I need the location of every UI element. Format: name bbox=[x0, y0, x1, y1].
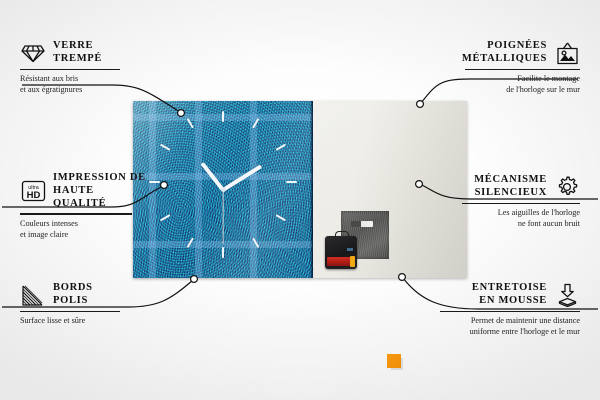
callout-subtitle: Couleurs intenses et image claire bbox=[20, 218, 148, 240]
mechanism-hook bbox=[335, 231, 349, 239]
hour-marker bbox=[222, 247, 224, 258]
hanger-slot bbox=[351, 221, 373, 227]
mechanism-detail bbox=[347, 248, 353, 251]
clock-minute-hand bbox=[222, 164, 262, 191]
callout-rule bbox=[20, 213, 132, 214]
diamond-icon bbox=[20, 40, 46, 66]
callout-impression-haute-qualite: ultra HD IMPRESSION DE HAUTE QUALITÉ Cou… bbox=[20, 172, 148, 240]
clock-front-panel bbox=[133, 101, 313, 278]
hour-marker bbox=[187, 238, 194, 249]
callout-subtitle: Permet de maintenir une distance uniform… bbox=[428, 315, 580, 337]
callout-subtitle: Surface lisse et sûre bbox=[20, 315, 135, 326]
callout-header: ENTRETOISE EN MOUSSE bbox=[428, 282, 580, 308]
callout-mecanisme-silencieux: MÉCANISME SILENCIEUX Les aiguilles de l'… bbox=[448, 174, 580, 229]
hour-marker bbox=[222, 111, 224, 122]
callout-title: MÉCANISME SILENCIEUX bbox=[474, 174, 547, 200]
callout-title: IMPRESSION DE HAUTE QUALITÉ bbox=[53, 172, 148, 210]
hour-marker bbox=[252, 238, 259, 249]
battery-terminal bbox=[350, 256, 355, 267]
callout-header: BORDS POLIS bbox=[20, 282, 135, 308]
product-image bbox=[133, 101, 467, 278]
hour-marker bbox=[276, 214, 287, 221]
clock-mechanism bbox=[325, 236, 357, 269]
hour-marker bbox=[187, 118, 194, 129]
hour-marker bbox=[252, 118, 259, 129]
callout-entretoise-en-mousse: ENTRETOISE EN MOUSSE Permet de maintenir… bbox=[428, 282, 580, 337]
gear-icon bbox=[554, 174, 580, 200]
hour-marker bbox=[149, 181, 160, 183]
callout-poignees-metalliques: POIGNÉES MÉTALLIQUES Facilite le montage… bbox=[450, 40, 580, 95]
picture-hanger-icon bbox=[554, 40, 580, 66]
ultra-hd-icon: ultra HD bbox=[20, 178, 46, 204]
infographic-canvas: VERRE TREMPÉ Résistant aux bris et aux é… bbox=[0, 0, 600, 400]
callout-header: ultra HD IMPRESSION DE HAUTE QUALITÉ bbox=[20, 172, 148, 210]
hour-marker bbox=[160, 144, 171, 151]
callout-title: BORDS POLIS bbox=[53, 282, 93, 308]
hour-marker bbox=[286, 181, 297, 183]
battery bbox=[327, 257, 352, 266]
callout-header: VERRE TREMPÉ bbox=[20, 40, 135, 66]
callout-rule bbox=[440, 311, 580, 312]
clock-second-hand bbox=[222, 190, 223, 244]
callout-subtitle: Facilite le montage de l'horloge sur le … bbox=[450, 73, 580, 95]
clock-hour-hand bbox=[200, 161, 224, 190]
polished-edge-icon bbox=[20, 282, 46, 308]
svg-text:HD: HD bbox=[26, 190, 40, 201]
clock-hand-cap bbox=[221, 187, 226, 192]
foam-spacer-icon bbox=[554, 282, 580, 308]
callout-bords-polis: BORDS POLIS Surface lisse et sûre bbox=[20, 282, 135, 326]
callout-rule bbox=[20, 311, 120, 312]
clock-face bbox=[133, 101, 313, 278]
hour-marker bbox=[160, 214, 171, 221]
callout-rule bbox=[462, 203, 580, 204]
callout-header: POIGNÉES MÉTALLIQUES bbox=[450, 40, 580, 66]
hour-marker bbox=[276, 144, 287, 151]
callout-subtitle: Résistant aux bris et aux égratignures bbox=[20, 73, 135, 95]
callout-title: ENTRETOISE EN MOUSSE bbox=[472, 282, 547, 308]
callout-title: VERRE TREMPÉ bbox=[53, 40, 102, 66]
foam-spacer-pad bbox=[387, 354, 401, 368]
callout-subtitle: Les aiguilles de l'horloge ne font aucun… bbox=[448, 207, 580, 229]
callout-header: MÉCANISME SILENCIEUX bbox=[448, 174, 580, 200]
callout-rule bbox=[20, 69, 120, 70]
callout-title: POIGNÉES MÉTALLIQUES bbox=[462, 40, 547, 66]
callout-verre-trempe: VERRE TREMPÉ Résistant aux bris et aux é… bbox=[20, 40, 135, 95]
callout-rule bbox=[465, 69, 580, 70]
